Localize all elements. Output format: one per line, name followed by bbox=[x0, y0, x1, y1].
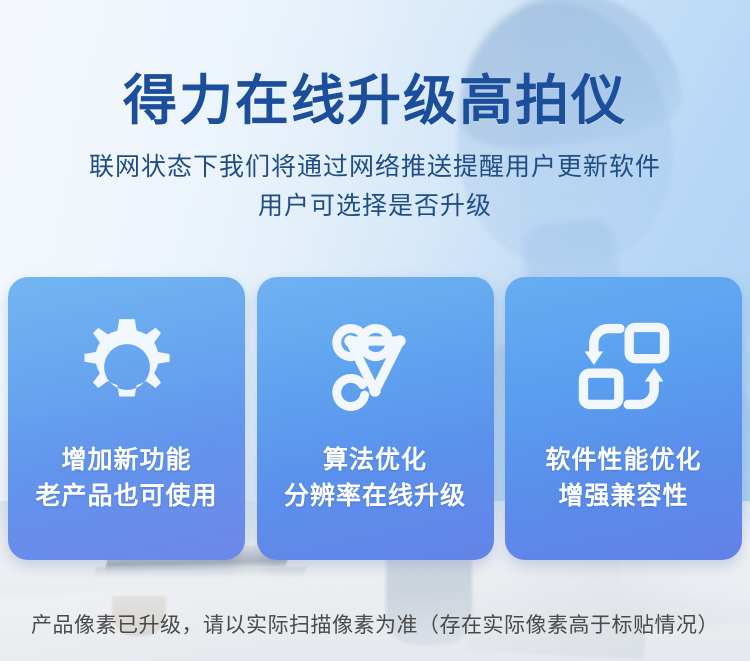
page-subtitle-line-2: 用户可选择是否升级 bbox=[0, 187, 750, 226]
feature-card-label-line-1: 算法优化 bbox=[284, 443, 466, 479]
feature-card-labels: 软件性能优化 增强兼容性 bbox=[545, 443, 701, 514]
feature-card-algorithm-optimization[interactable]: 算法优化 分辨率在线升级 bbox=[257, 277, 494, 560]
page-title: 得力在线升级高拍仪 bbox=[0, 0, 750, 130]
page-subtitle: 联网状态下我们将通过网络推送提醒用户更新软件 用户可选择是否升级 bbox=[0, 130, 750, 226]
gear-icon bbox=[71, 313, 183, 421]
feature-card-labels: 算法优化 分辨率在线升级 bbox=[284, 443, 466, 514]
feature-card-label-line-1: 软件性能优化 bbox=[545, 443, 701, 479]
page-subtitle-line-1: 联网状态下我们将通过网络推送提醒用户更新软件 bbox=[0, 148, 750, 187]
footer-disclaimer-note: 产品像素已升级，请以实际扫描像素为准（存在实际像素高于标贴情况） bbox=[0, 609, 750, 639]
feature-card-list: 增加新功能 老产品也可使用 bbox=[8, 277, 742, 560]
feature-card-new-functions[interactable]: 增加新功能 老产品也可使用 bbox=[8, 277, 245, 560]
network-nodes-icon bbox=[319, 313, 431, 421]
feature-card-label-line-2: 老产品也可使用 bbox=[35, 479, 217, 515]
feature-card-label-line-2: 分辨率在线升级 bbox=[284, 479, 466, 515]
headline-block: 得力在线升级高拍仪 联网状态下我们将通过网络推送提醒用户更新软件 用户可选择是否… bbox=[0, 0, 750, 226]
sync-swap-icon bbox=[568, 313, 680, 421]
feature-card-label-line-2: 增强兼容性 bbox=[545, 479, 701, 515]
feature-card-label-line-1: 增加新功能 bbox=[35, 443, 217, 479]
feature-card-performance-compatibility[interactable]: 软件性能优化 增强兼容性 bbox=[505, 277, 742, 560]
feature-card-labels: 增加新功能 老产品也可使用 bbox=[35, 443, 217, 514]
product-promo-poster: 得力在线升级高拍仪 联网状态下我们将通过网络推送提醒用户更新软件 用户可选择是否… bbox=[0, 0, 750, 661]
